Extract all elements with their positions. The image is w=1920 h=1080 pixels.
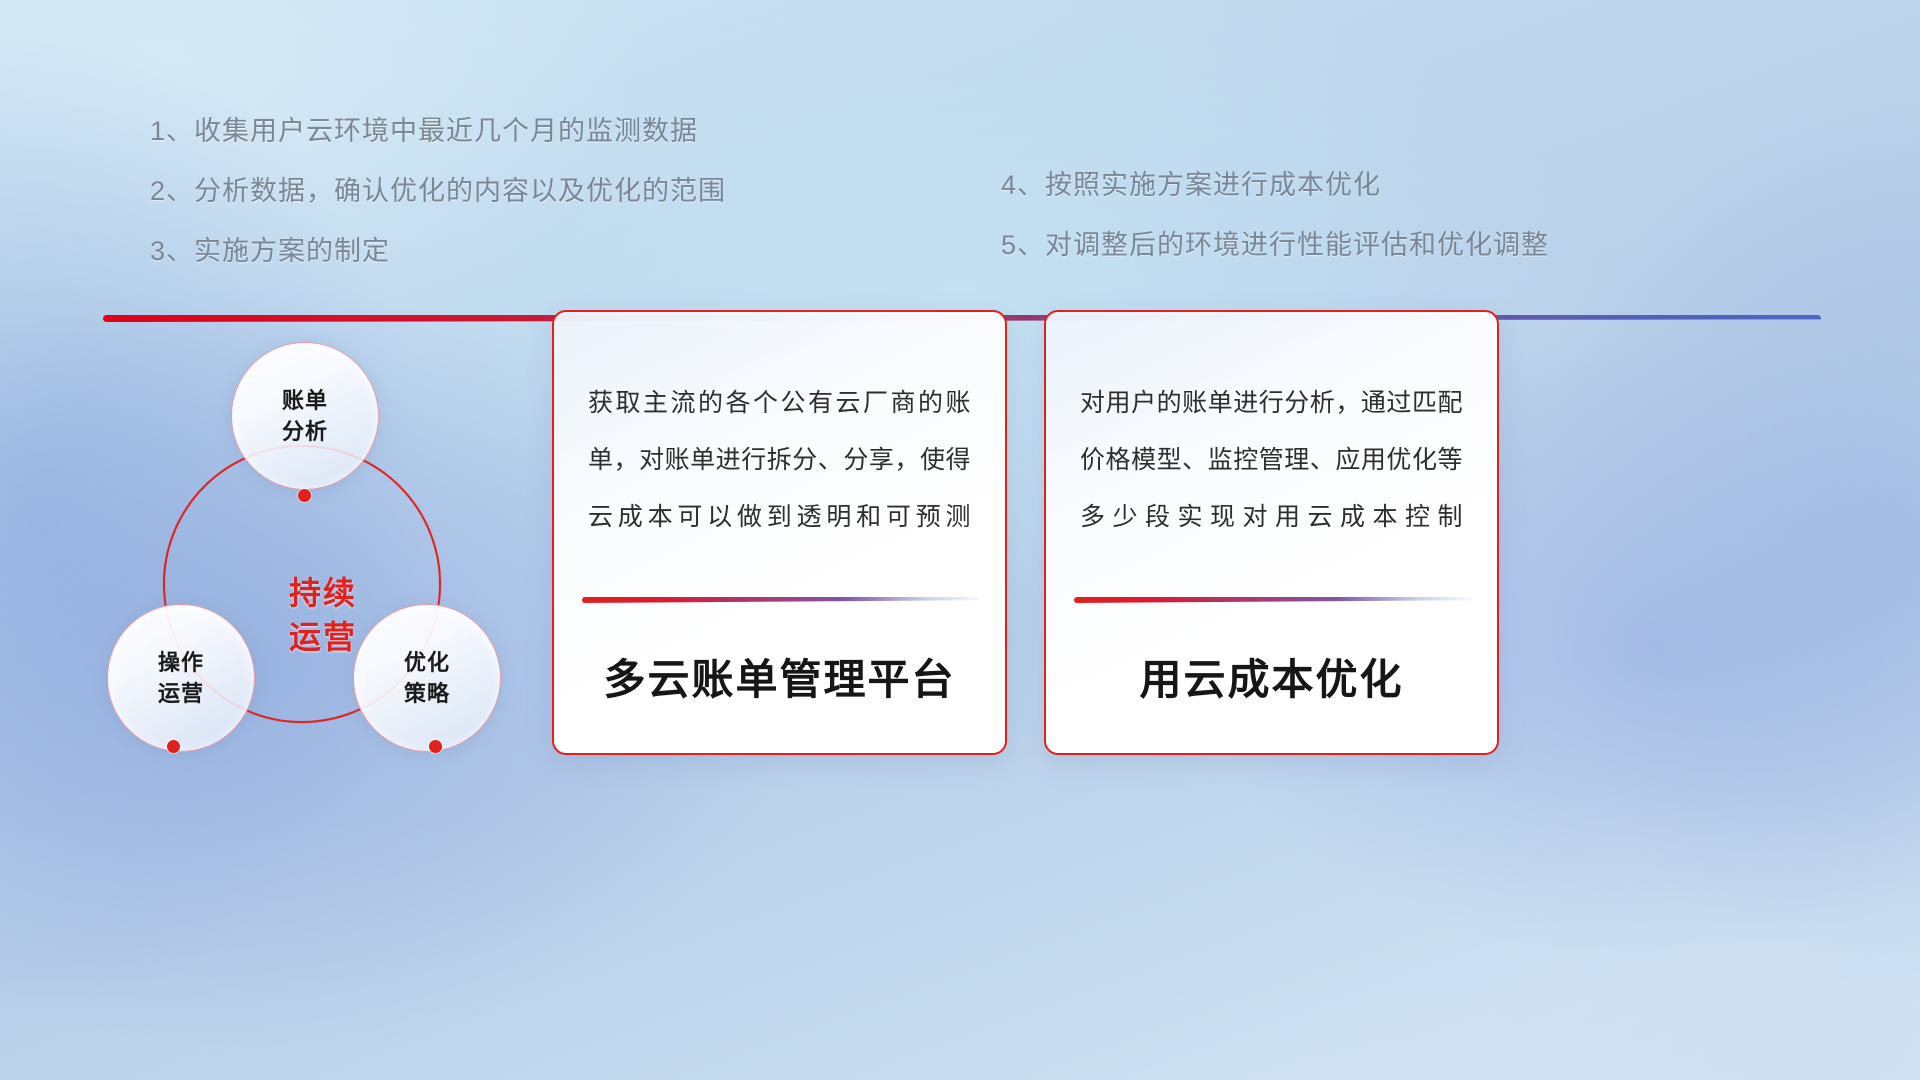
card-2-title: 用云成本优化 [1046, 646, 1497, 707]
circle-bill-analysis-line-2: 分析 [282, 416, 328, 447]
circle-optimization-strategy-line-1: 优化 [404, 647, 450, 678]
card-1-title: 多云账单管理平台 [554, 646, 1005, 707]
connector-dot-right-icon [429, 740, 442, 753]
circle-optimization-strategy-line-2: 策略 [404, 678, 450, 709]
step-item-4: 4、按照实施方案进行成本优化 [1001, 155, 1549, 215]
step-item-5: 5、对调整后的环境进行性能评估和优化调整 [1001, 215, 1549, 275]
slide-canvas: 1、收集用户云环境中最近几个月的监测数据 2、分析数据，确认优化的内容以及优化的… [0, 0, 1920, 1080]
card-2-accent-rule [1074, 597, 1472, 603]
center-label-line-1: 持续 [289, 571, 357, 615]
step-item-1: 1、收集用户云环境中最近几个月的监测数据 [150, 101, 726, 161]
center-label-line-2: 运营 [289, 615, 357, 659]
circle-operation-management-line-1: 操作 [158, 647, 204, 678]
steps-right-column: 4、按照实施方案进行成本优化 5、对调整后的环境进行性能评估和优化调整 [1001, 155, 1549, 275]
circle-operation-management-label: 操作 运营 [158, 647, 204, 709]
card-1-body-text: 获取主流的各个公有云厂商的账单，对账单进行拆分、分享，使得云成本可以做到透明和可… [554, 312, 1005, 546]
circle-bill-analysis-label: 账单 分析 [282, 385, 328, 447]
circle-operation-management-line-2: 运营 [158, 678, 204, 709]
continuous-operation-diagram: 持续 运营 账单 分析 操作 运营 优化 策略 [95, 350, 535, 770]
circle-optimization-strategy-label: 优化 策略 [404, 647, 450, 709]
card-multicloud-billing-platform[interactable]: 获取主流的各个公有云厂商的账单，对账单进行拆分、分享，使得云成本可以做到透明和可… [552, 310, 1007, 755]
circle-bill-analysis[interactable]: 账单 分析 [231, 342, 379, 490]
steps-left-column: 1、收集用户云环境中最近几个月的监测数据 2、分析数据，确认优化的内容以及优化的… [150, 101, 726, 281]
circle-optimization-strategy[interactable]: 优化 策略 [353, 604, 501, 752]
circle-operation-management[interactable]: 操作 运营 [107, 604, 255, 752]
step-item-3: 3、实施方案的制定 [150, 221, 726, 281]
step-item-2: 2、分析数据，确认优化的内容以及优化的范围 [150, 161, 726, 221]
connector-dot-left-icon [167, 740, 180, 753]
card-2-body-text: 对用户的账单进行分析，通过匹配价格模型、监控管理、应用优化等多少段实现对用云成本… [1046, 312, 1497, 546]
circle-bill-analysis-line-1: 账单 [282, 385, 328, 416]
card-1-accent-rule [582, 597, 980, 603]
card-cloud-cost-optimization[interactable]: 对用户的账单进行分析，通过匹配价格模型、监控管理、应用优化等多少段实现对用云成本… [1044, 310, 1499, 755]
connector-dot-top-icon [298, 489, 311, 502]
